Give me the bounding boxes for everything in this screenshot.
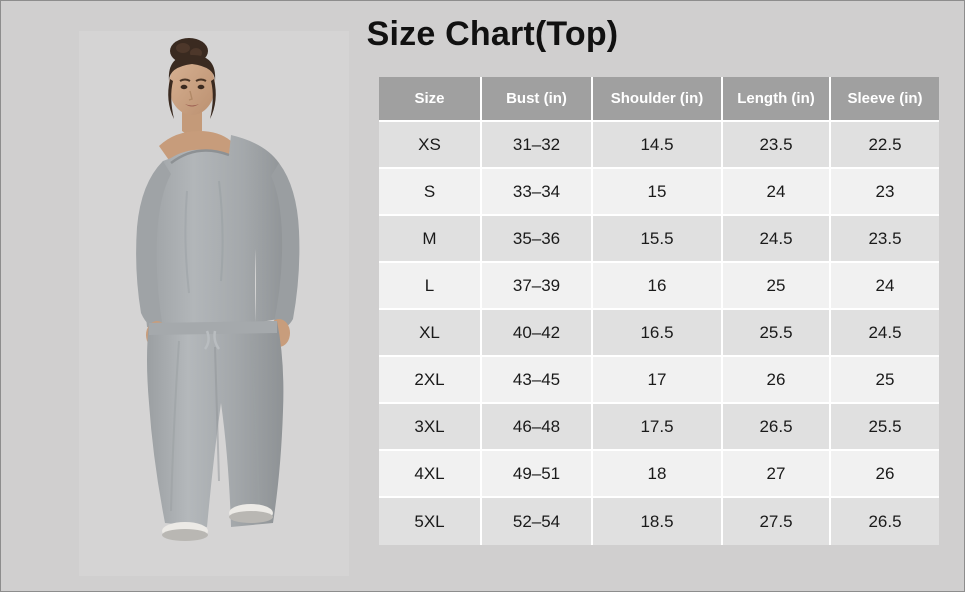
cell-sleeve: 25 bbox=[831, 357, 939, 404]
size-chart-page: Size Chart(Top) bbox=[0, 0, 965, 592]
cell-sleeve: 23.5 bbox=[831, 216, 939, 263]
cell-bust: 40–42 bbox=[482, 310, 593, 357]
cell-bust: 33–34 bbox=[482, 169, 593, 216]
column-header-sleeve: Sleeve (in) bbox=[831, 77, 939, 122]
cell-bust: 49–51 bbox=[482, 451, 593, 498]
product-photo bbox=[79, 31, 349, 576]
table-header: Size Bust (in) Shoulder (in) Length (in)… bbox=[379, 77, 939, 122]
cell-shoulder: 18.5 bbox=[593, 498, 723, 545]
cell-length: 26 bbox=[723, 357, 831, 404]
cell-length: 24.5 bbox=[723, 216, 831, 263]
table-row: L 37–39 16 25 24 bbox=[379, 263, 939, 310]
cell-shoulder: 16.5 bbox=[593, 310, 723, 357]
cell-shoulder: 15 bbox=[593, 169, 723, 216]
cell-size: 4XL bbox=[379, 451, 482, 498]
cell-length: 25.5 bbox=[723, 310, 831, 357]
cell-shoulder: 17 bbox=[593, 357, 723, 404]
column-header-bust: Bust (in) bbox=[482, 77, 593, 122]
cell-bust: 52–54 bbox=[482, 498, 593, 545]
table-body: XS 31–32 14.5 23.5 22.5 S 33–34 15 24 23… bbox=[379, 122, 939, 545]
cell-size: L bbox=[379, 263, 482, 310]
table-row: S 33–34 15 24 23 bbox=[379, 169, 939, 216]
cell-length: 25 bbox=[723, 263, 831, 310]
cell-shoulder: 17.5 bbox=[593, 404, 723, 451]
cell-sleeve: 25.5 bbox=[831, 404, 939, 451]
cell-size: XS bbox=[379, 122, 482, 169]
cell-bust: 37–39 bbox=[482, 263, 593, 310]
cell-length: 24 bbox=[723, 169, 831, 216]
cell-sleeve: 24.5 bbox=[831, 310, 939, 357]
cell-size: XL bbox=[379, 310, 482, 357]
cell-shoulder: 16 bbox=[593, 263, 723, 310]
cell-sleeve: 26.5 bbox=[831, 498, 939, 545]
cell-sleeve: 23 bbox=[831, 169, 939, 216]
cell-bust: 46–48 bbox=[482, 404, 593, 451]
column-header-shoulder: Shoulder (in) bbox=[593, 77, 723, 122]
cell-length: 27.5 bbox=[723, 498, 831, 545]
cell-length: 26.5 bbox=[723, 404, 831, 451]
column-header-length: Length (in) bbox=[723, 77, 831, 122]
cell-shoulder: 18 bbox=[593, 451, 723, 498]
cell-shoulder: 15.5 bbox=[593, 216, 723, 263]
table-row: M 35–36 15.5 24.5 23.5 bbox=[379, 216, 939, 263]
cell-sleeve: 22.5 bbox=[831, 122, 939, 169]
cell-bust: 43–45 bbox=[482, 357, 593, 404]
cell-length: 27 bbox=[723, 451, 831, 498]
cell-bust: 31–32 bbox=[482, 122, 593, 169]
cell-size: 5XL bbox=[379, 498, 482, 545]
table-header-row: Size Bust (in) Shoulder (in) Length (in)… bbox=[379, 77, 939, 122]
table-row: XS 31–32 14.5 23.5 22.5 bbox=[379, 122, 939, 169]
size-table-container: Size Bust (in) Shoulder (in) Length (in)… bbox=[379, 77, 939, 547]
cell-length: 23.5 bbox=[723, 122, 831, 169]
cell-bust: 35–36 bbox=[482, 216, 593, 263]
cell-sleeve: 26 bbox=[831, 451, 939, 498]
table-row: 5XL 52–54 18.5 27.5 26.5 bbox=[379, 498, 939, 545]
cell-size: 3XL bbox=[379, 404, 482, 451]
cell-sleeve: 24 bbox=[831, 263, 939, 310]
table-row: XL 40–42 16.5 25.5 24.5 bbox=[379, 310, 939, 357]
table-row: 3XL 46–48 17.5 26.5 25.5 bbox=[379, 404, 939, 451]
cell-shoulder: 14.5 bbox=[593, 122, 723, 169]
cell-size: 2XL bbox=[379, 357, 482, 404]
table-row: 2XL 43–45 17 26 25 bbox=[379, 357, 939, 404]
table-row: 4XL 49–51 18 27 26 bbox=[379, 451, 939, 498]
size-chart-table: Size Bust (in) Shoulder (in) Length (in)… bbox=[379, 77, 939, 545]
cell-size: M bbox=[379, 216, 482, 263]
cell-size: S bbox=[379, 169, 482, 216]
column-header-size: Size bbox=[379, 77, 482, 122]
model-illustration bbox=[79, 31, 349, 576]
